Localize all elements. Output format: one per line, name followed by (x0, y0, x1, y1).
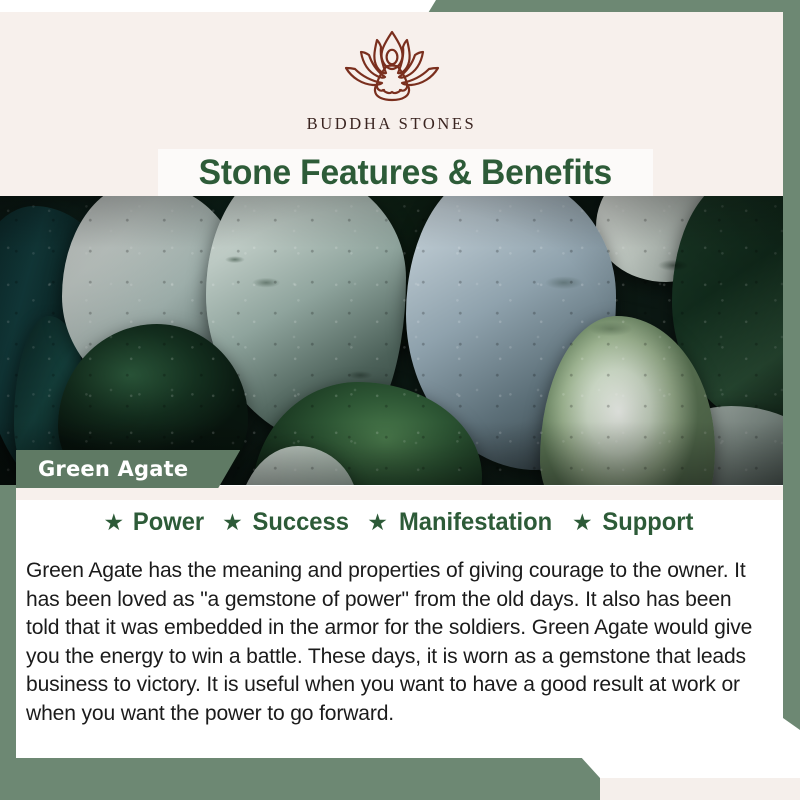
benefit-label: Power (133, 508, 204, 537)
star-icon: ★ (367, 511, 388, 534)
brand-logo: BUDDHA STONES (0, 26, 783, 134)
infographic-poster: BUDDHA STONES Stone Features & Benefits … (0, 0, 800, 800)
benefit-label: Support (602, 508, 693, 537)
content-panel-top-strip (16, 486, 783, 500)
header-panel: BUDDHA STONES Stone Features & Benefits (0, 12, 783, 198)
photo-vignette (0, 196, 783, 485)
page-title: Stone Features & Benefits (199, 153, 612, 193)
frame-accent-bottom-right (600, 778, 800, 800)
star-icon: ★ (104, 511, 125, 534)
page-title-band: Stone Features & Benefits (158, 149, 653, 197)
benefit-item-success: ★ Success (222, 508, 351, 537)
star-icon: ★ (222, 511, 243, 534)
benefit-item-manifestation: ★ Manifestation (367, 508, 556, 537)
frame-accent-bottom (0, 756, 620, 800)
brand-name: BUDDHA STONES (307, 114, 477, 134)
benefit-label: Success (252, 508, 348, 537)
stone-name: Green Agate (38, 457, 188, 481)
product-photo (0, 196, 783, 485)
frame-accent-left (0, 432, 16, 800)
benefit-item-power: ★ Power (104, 508, 207, 537)
lotus-meditation-icon (336, 26, 448, 110)
star-icon: ★ (572, 511, 593, 534)
frame-accent-right-taper (783, 690, 800, 730)
benefit-label: Manifestation (399, 508, 552, 537)
stone-name-badge: Green Agate (16, 450, 240, 488)
benefits-list: ★ Power ★ Success ★ Manifestation ★ Supp… (16, 508, 783, 537)
stone-description: Green Agate has the meaning and properti… (26, 556, 759, 728)
benefit-item-support: ★ Support (572, 508, 695, 537)
frame-accent-right (783, 0, 800, 718)
